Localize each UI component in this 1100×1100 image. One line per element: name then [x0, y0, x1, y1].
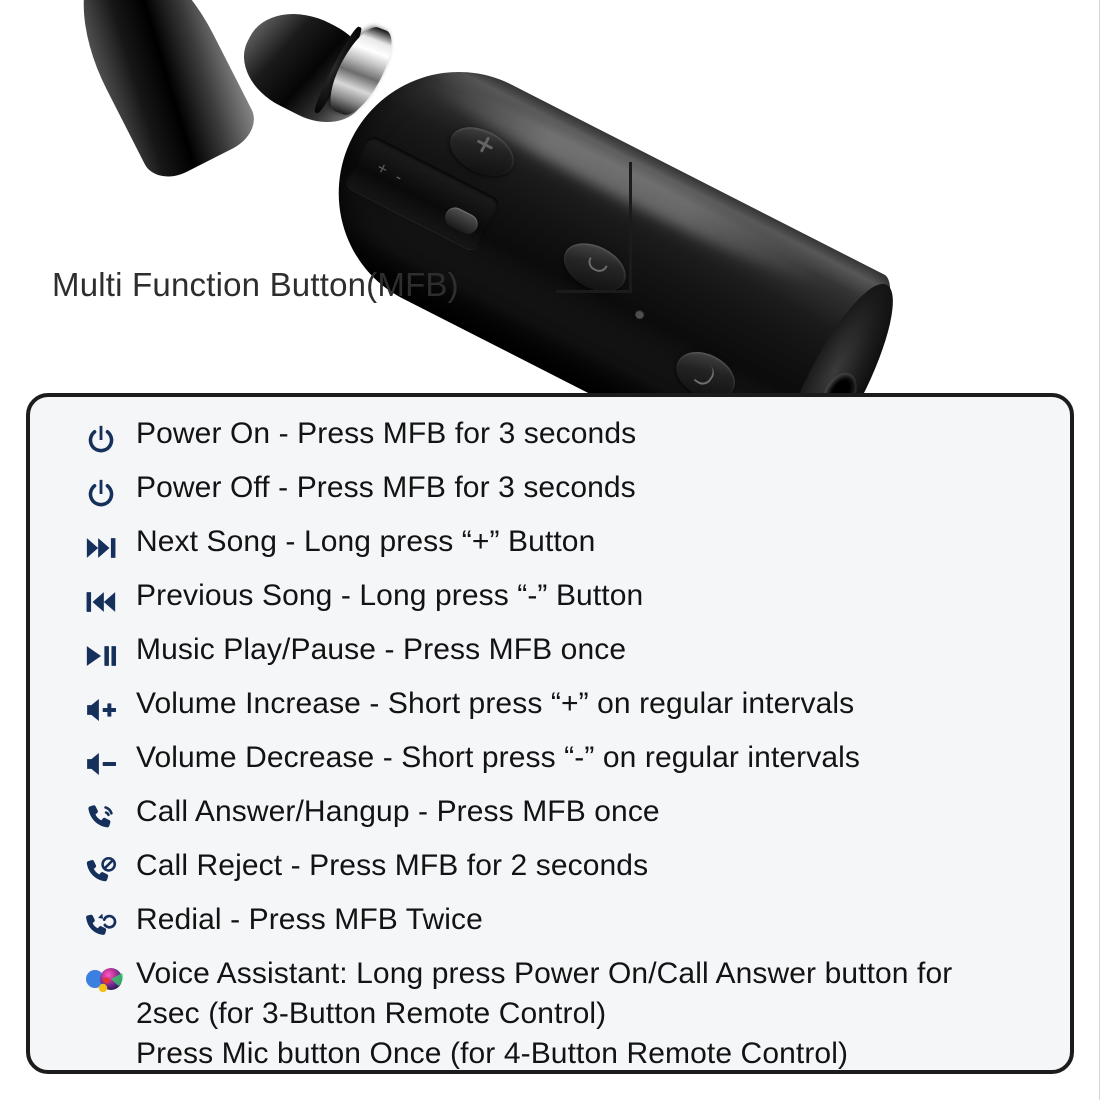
product-photo: + - Multi Function Button(MFB) — [0, 0, 1100, 380]
power-icon — [84, 420, 130, 460]
previous-track-icon — [84, 582, 130, 622]
feature-row: Call Answer/Hangup - Press MFB once — [30, 792, 1070, 846]
feature-row: Power Off - Press MFB for 3 seconds — [30, 468, 1070, 522]
feature-row: Previous Song - Long press “-” Button — [30, 576, 1070, 630]
feature-row: Call Reject - Press MFB for 2 seconds — [30, 846, 1070, 900]
feature-row: Next Song - Long press “+” Button — [30, 522, 1070, 576]
feature-text: Previous Song - Long press “-” Button — [130, 576, 643, 616]
redial-icon — [84, 906, 130, 946]
play-pause-icon — [84, 636, 130, 676]
feature-text: Next Song - Long press “+” Button — [130, 522, 595, 562]
mfb-callout-label: Multi Function Button(MFB) — [52, 266, 459, 304]
slider-switch[interactable] — [442, 204, 481, 237]
leader-line-vertical — [629, 162, 632, 293]
feature-text: Music Play/Pause - Press MFB once — [130, 630, 626, 670]
volume-down-icon — [84, 744, 130, 784]
earphone-cable — [52, 0, 263, 187]
feature-row: Volume Decrease - Short press “-” on reg… — [30, 738, 1070, 792]
call-reject-icon — [84, 852, 130, 892]
feature-list: Power On - Press MFB for 3 secondsPower … — [30, 397, 1070, 1074]
feature-text: Call Answer/Hangup - Press MFB once — [130, 792, 660, 832]
call-answer-icon — [84, 798, 130, 838]
feature-row: Music Play/Pause - Press MFB once — [30, 630, 1070, 684]
next-track-icon — [84, 528, 130, 568]
leader-line-horizontal — [556, 290, 632, 293]
feature-text: Volume Decrease - Short press “-” on reg… — [130, 738, 860, 778]
feature-text: Voice Assistant: Long press Power On/Cal… — [130, 954, 952, 1074]
power-icon — [84, 474, 130, 514]
feature-row: Volume Increase - Short press “+” on reg… — [30, 684, 1070, 738]
feature-text: Call Reject - Press MFB for 2 seconds — [130, 846, 648, 886]
feature-text: Redial - Press MFB Twice — [130, 900, 483, 940]
feature-text: Volume Increase - Short press “+” on reg… — [130, 684, 854, 724]
feature-row: Redial - Press MFB Twice — [30, 900, 1070, 954]
voice-assistant-icon — [84, 960, 130, 1000]
volume-up-icon — [84, 690, 130, 730]
feature-text: Power On - Press MFB for 3 seconds — [130, 414, 636, 454]
recess-marks-label: + - — [373, 158, 408, 189]
feature-row: Power On - Press MFB for 3 seconds — [30, 414, 1070, 468]
feature-text: Power Off - Press MFB for 3 seconds — [130, 468, 636, 508]
instructions-panel: Power On - Press MFB for 3 secondsPower … — [26, 393, 1074, 1074]
feature-row: Voice Assistant: Long press Power On/Cal… — [30, 954, 1070, 1074]
product-instruction-infographic: + - Multi Function Button(MFB) Power On … — [0, 0, 1100, 1100]
